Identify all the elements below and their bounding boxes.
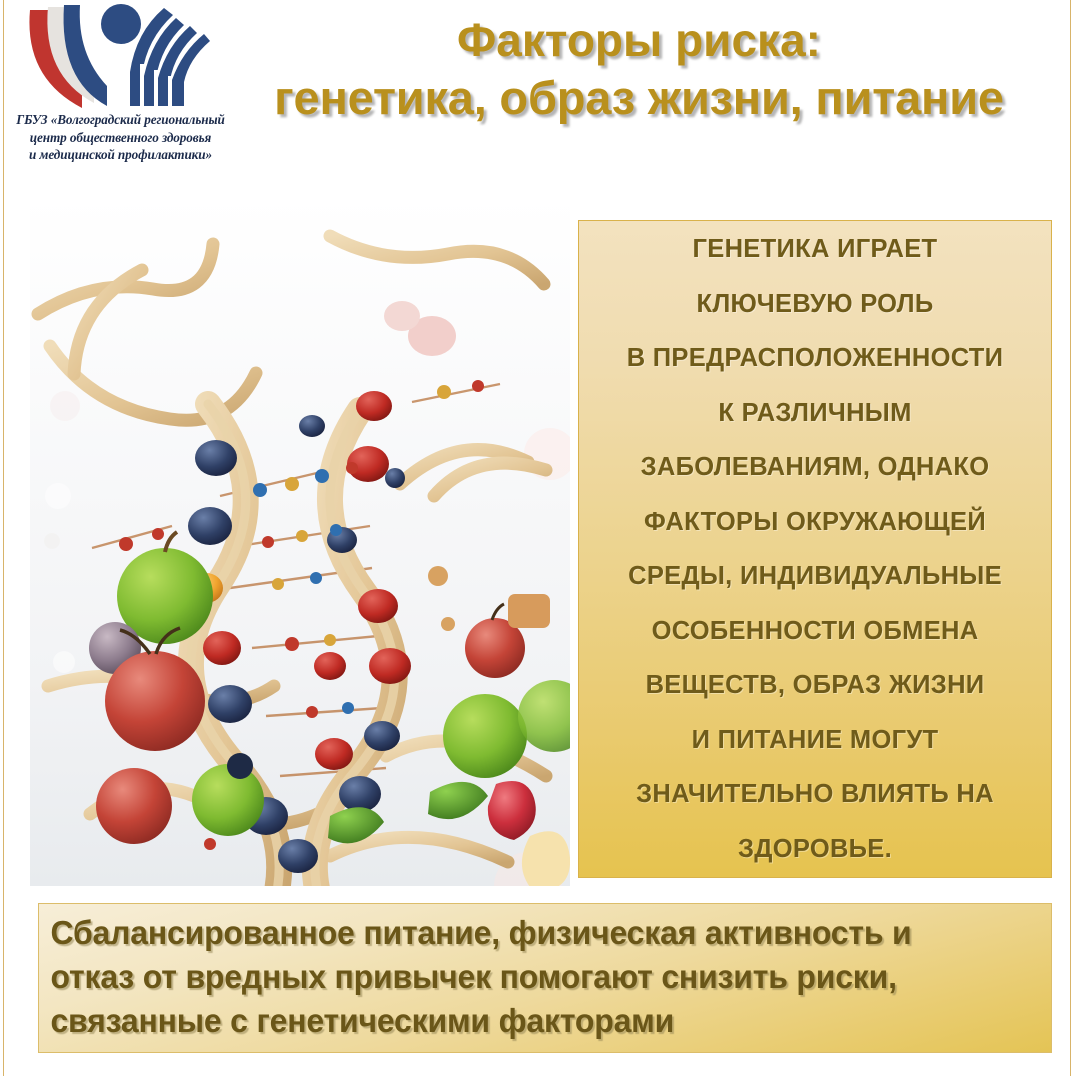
organization-logo: ГБУЗ «Волгоградский региональный центр о… [8,2,233,177]
banner-line-2: отказ от вредных привычек помогают снизи… [50,956,995,1000]
title-line-1: Факторы риска: [208,12,1070,69]
panel-line-10: И ПИТАНИЕ МОГУТ [593,713,1037,768]
health-center-emblem-icon [8,2,233,110]
panel-line-2: КЛЮЧЕВУЮ РОЛЬ [593,277,1037,332]
panel-line-12: ЗДОРОВЬЕ. [593,822,1037,877]
logo-caption-line-2: центр общественного здоровья [8,129,233,147]
panel-line-1: ГЕНЕТИКА ИГРАЕТ [593,222,1037,277]
panel-line-6: ФАКТОРЫ ОКРУЖАЮЩЕЙ [593,495,1037,550]
poster-root: ГБУЗ «Волгоградский региональный центр о… [0,0,1076,1076]
panel-line-11: ЗНАЧИТЕЛЬНО ВЛИЯТЬ НА [593,767,1037,822]
poster-title: Факторы риска: генетика, образ жизни, пи… [208,12,1070,126]
logo-caption: ГБУЗ «Волгоградский региональный центр о… [8,111,233,164]
panel-line-9: ВЕЩЕСТВ, ОБРАЗ ЖИЗНИ [593,658,1037,713]
panel-line-8: ОСОБЕННОСТИ ОБМЕНА [593,604,1037,659]
genetics-info-text: ГЕНЕТИКА ИГРАЕТ КЛЮЧЕВУЮ РОЛЬ В ПРЕДРАСП… [579,222,1051,876]
banner-line-3: связанные с генетическими факторами [50,1000,995,1044]
panel-line-7: СРЕДЫ, ИНДИВИДУАЛЬНЫЕ [593,549,1037,604]
poster-header: ГБУЗ «Волгоградский региональный центр о… [0,0,1076,185]
banner-line-1: Сбалансированное питание, физическая акт… [50,912,995,956]
panel-line-5: ЗАБОЛЕВАНИЯМ, ОДНАКО [593,440,1037,495]
recommendation-banner: Сбалансированное питание, физическая акт… [38,903,1052,1053]
dna-food-illustration [30,196,570,886]
logo-caption-line-1: ГБУЗ «Волгоградский региональный [8,111,233,129]
genetics-info-panel: ГЕНЕТИКА ИГРАЕТ КЛЮЧЕВУЮ РОЛЬ В ПРЕДРАСП… [578,220,1052,878]
panel-line-4: К РАЗЛИЧНЫМ [593,386,1037,441]
recommendation-text: Сбалансированное питание, физическая акт… [39,912,1005,1044]
panel-line-3: В ПРЕДРАСПОЛОЖЕННОСТИ [593,331,1037,386]
logo-caption-line-3: и медицинской профилактики» [8,146,233,164]
title-line-2: генетика, образ жизни, питание [208,69,1070,126]
